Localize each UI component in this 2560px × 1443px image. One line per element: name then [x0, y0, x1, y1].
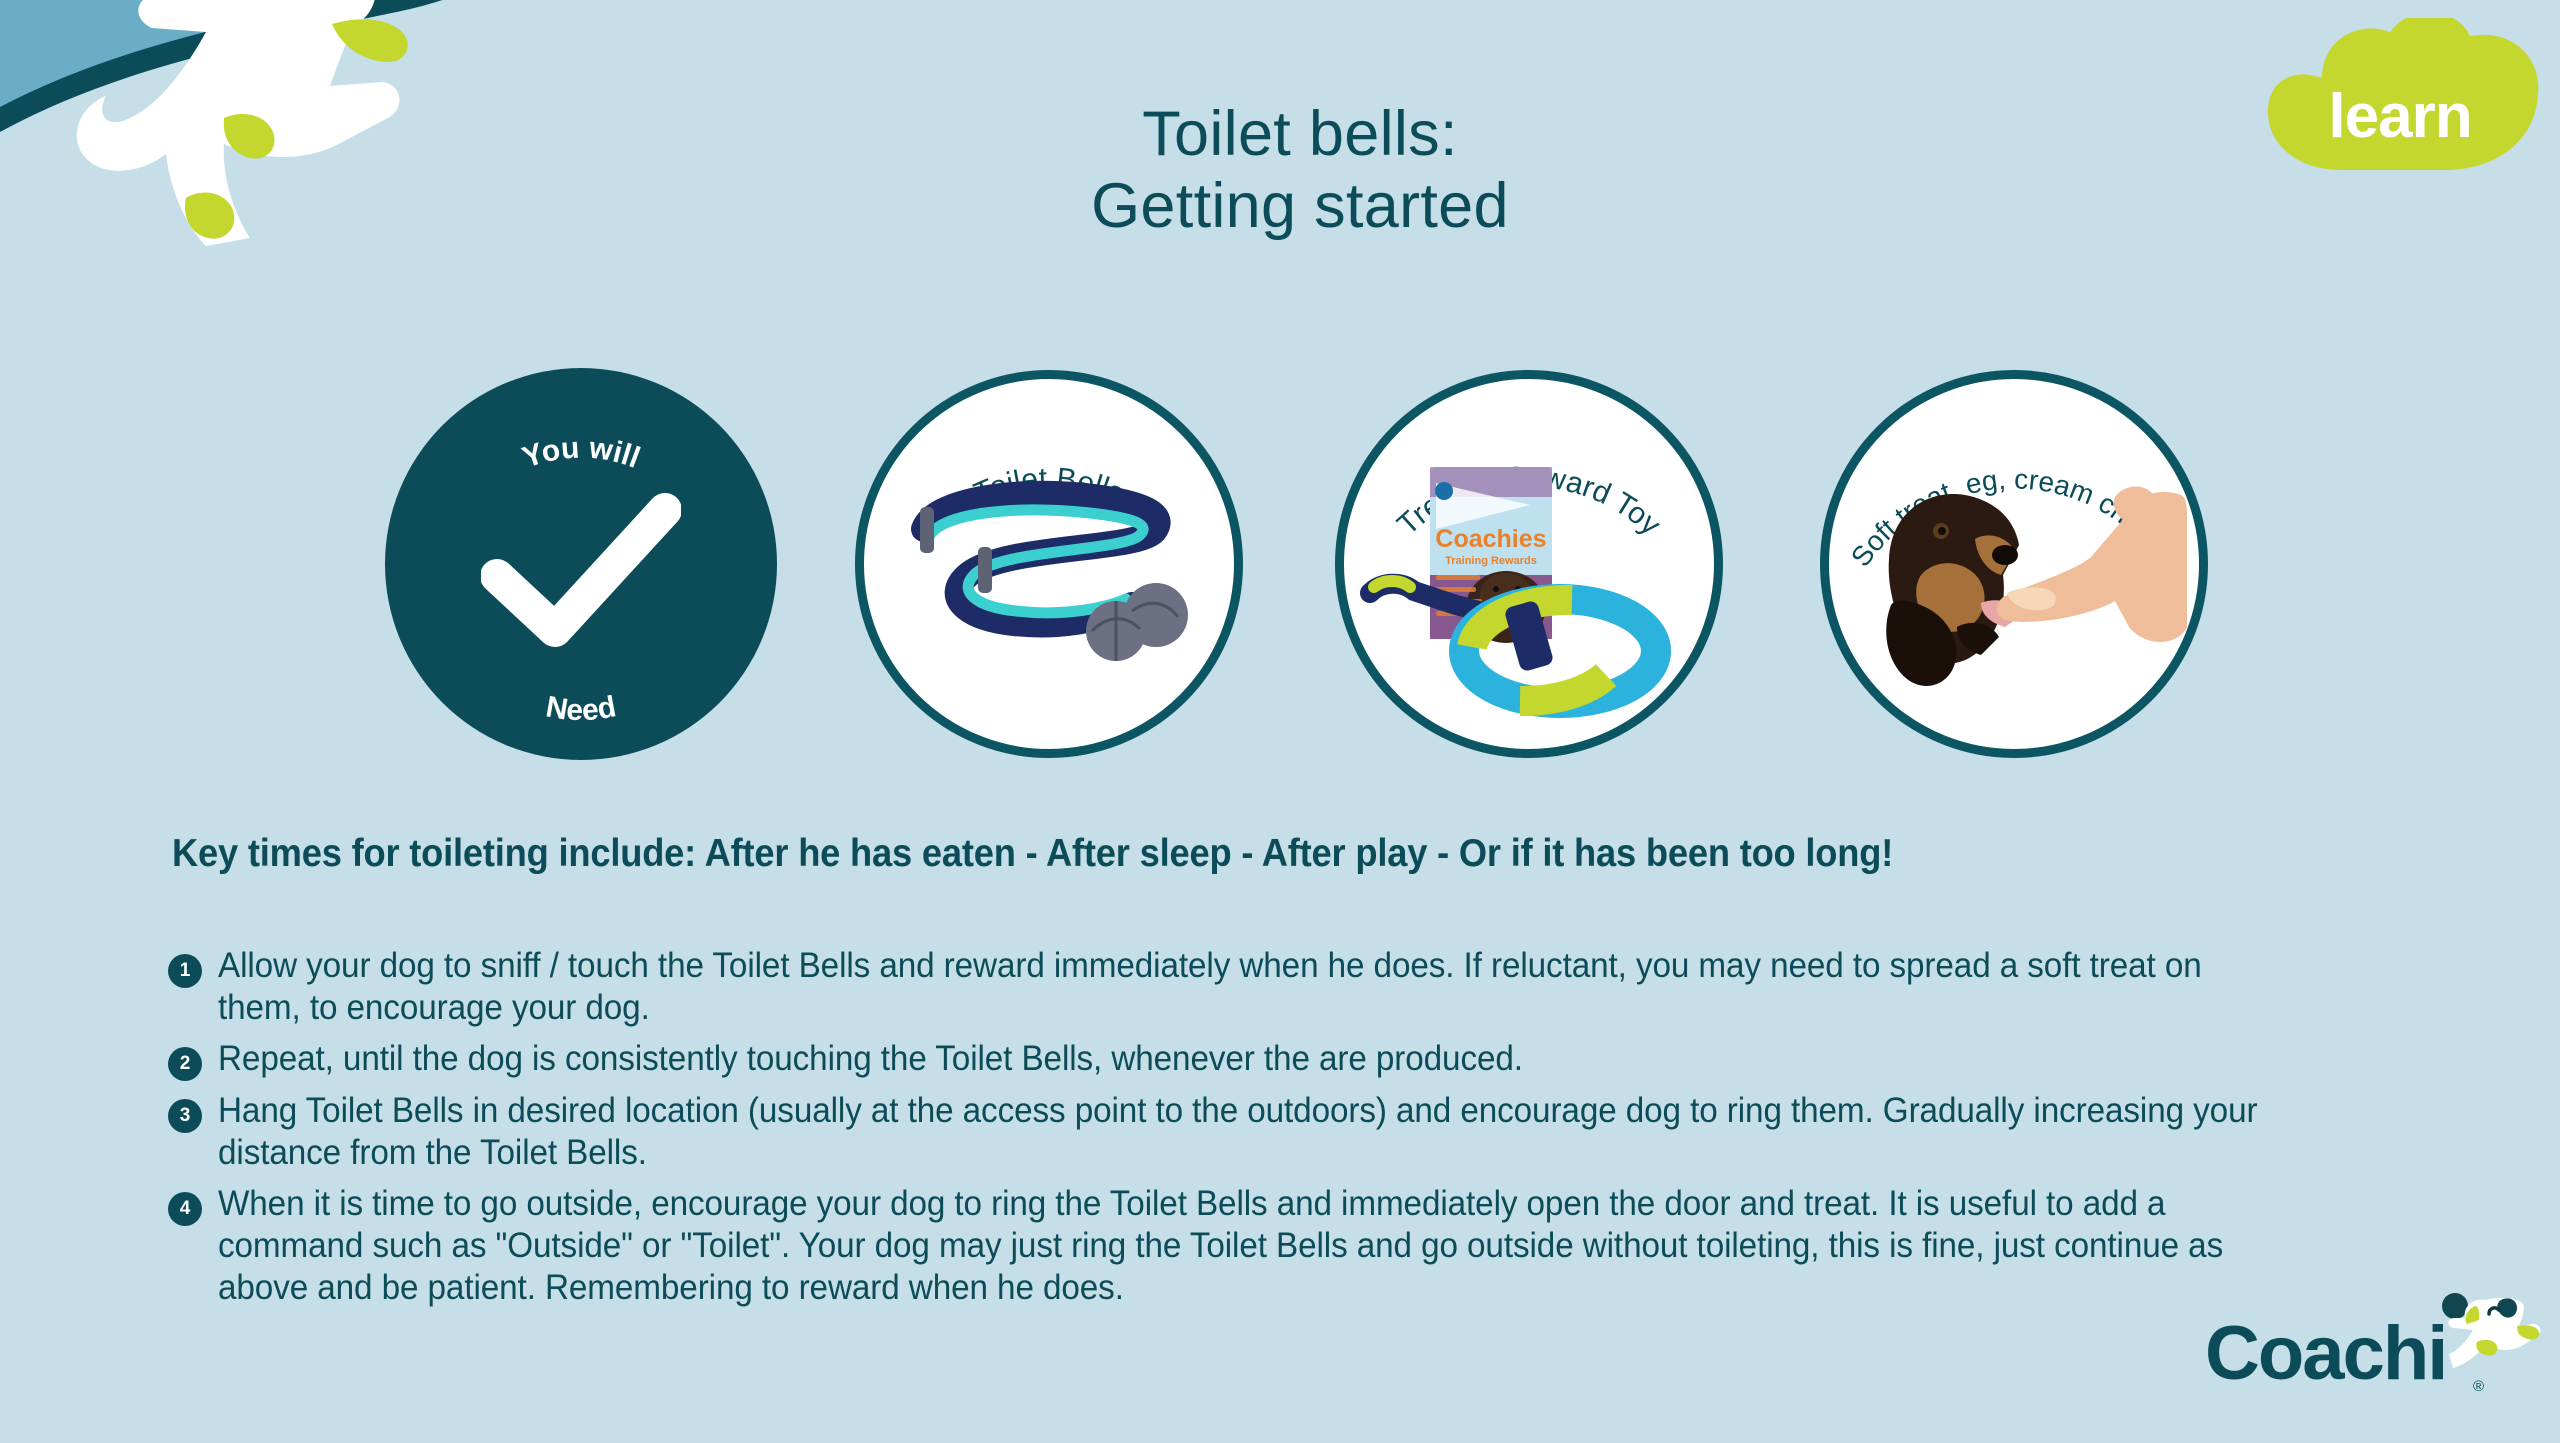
hero-cloud-dog-illustration [0, 0, 820, 290]
pack-subtitle: Training Rewards [1445, 555, 1537, 567]
dog-head [1886, 494, 2025, 686]
page-title: Toilet bells: Getting started [760, 98, 1840, 243]
circle-treats-reward-toy[interactable]: Treats / Reward Toy Coachies Training Re… [1335, 370, 1723, 758]
circle-soft-treat[interactable]: Soft treat, eg, cream cheese [1820, 370, 2208, 758]
circle-you-will-need[interactable]: You will Need [385, 368, 777, 760]
dog-licking-finger-photo [1829, 379, 2199, 749]
step-text: When it is time to go outside, encourage… [218, 1183, 2289, 1309]
learn-badge-label: learn [2250, 18, 2550, 193]
svg-text:You will: You will [518, 431, 644, 474]
arc-bottom-label: Need [543, 690, 618, 727]
step-text: Allow your dog to sniff / touch the Toil… [218, 945, 2289, 1029]
step-number-badge: 4 [168, 1192, 202, 1226]
ball-icon [2442, 1293, 2468, 1319]
step-number-badge: 2 [168, 1047, 202, 1081]
dog-nose [1992, 545, 2018, 565]
check-icon [481, 488, 681, 648]
toilet-bells-photo [864, 379, 1234, 749]
chest-accent [332, 19, 408, 62]
step-number-badge: 3 [168, 1099, 202, 1133]
coachi-jumping-dog-icon [2433, 1284, 2543, 1374]
jumping-dog-icon [10, 0, 490, 258]
list-item: 3 Hang Toilet Bells in desired location … [168, 1090, 2398, 1174]
slider-buckle [920, 507, 934, 553]
page-title-line-1: Toilet bells: [760, 98, 1840, 170]
learn-badge[interactable]: learn [2250, 18, 2550, 193]
step-text: Hang Toilet Bells in desired location (u… [218, 1090, 2289, 1174]
poster-canvas: learn Toilet bells: Getting started You … [0, 0, 2560, 1443]
list-item: 2 Repeat, until the dog is consistently … [168, 1038, 2398, 1081]
registered-mark: ® [2473, 1378, 2484, 1395]
step-number-badge: 1 [168, 954, 202, 988]
slider-buckle [978, 547, 992, 593]
arc-top-label: You will [518, 431, 644, 474]
instruction-steps: 1 Allow your dog to sniff / touch the To… [168, 945, 2398, 1318]
circle-toilet-bells[interactable]: Toilet Bells [855, 370, 1243, 758]
key-times-heading: Key times for toileting include: After h… [172, 832, 2283, 876]
coachies-pack-and-ring-toy-photo: Coachies Training Rewards [1344, 379, 1714, 749]
step-text: Repeat, until the dog is consistently to… [218, 1038, 1523, 1080]
hand-with-treat [1997, 487, 2187, 643]
coachi-logo-wordmark: Coachi [2205, 1310, 2446, 1397]
list-item: 1 Allow your dog to sniff / touch the To… [168, 945, 2398, 1029]
coachi-logo[interactable]: Coachi ® [2205, 1300, 2535, 1420]
materials-row: You will Need Toilet Bells [0, 360, 2560, 780]
svg-text:Need: Need [543, 690, 618, 727]
pack-brand: Coachies [1435, 525, 1546, 553]
list-item: 4 When it is time to go outside, encoura… [168, 1183, 2398, 1309]
page-title-line-2: Getting started [760, 170, 1840, 242]
bell-icon [1124, 583, 1188, 647]
